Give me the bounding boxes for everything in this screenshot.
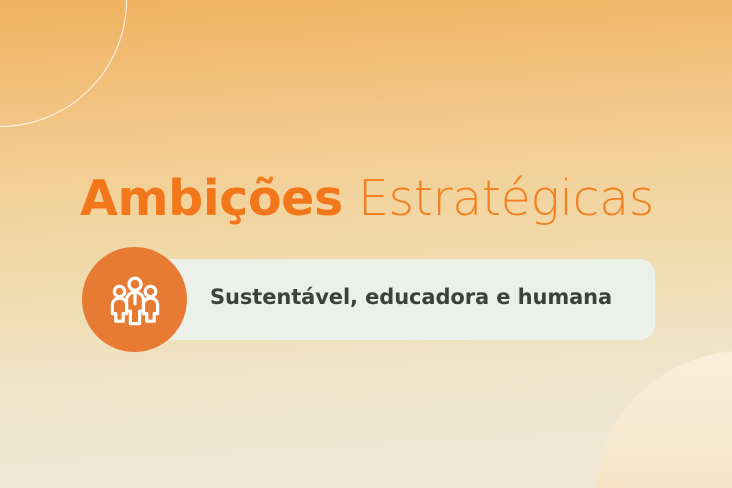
group-of-people-icon bbox=[106, 271, 164, 329]
decorative-circle-bottom-right bbox=[594, 351, 732, 488]
ambitions-banner: Ambições Estratégicas Sustentável, educa… bbox=[0, 0, 732, 488]
page-title-light: Estratégicas bbox=[343, 170, 654, 227]
page-title-strong: Ambições bbox=[80, 170, 343, 227]
decorative-arc-top-left bbox=[0, 0, 127, 127]
subtitle-text: Sustentável, educadora e humana bbox=[210, 285, 612, 309]
icon-badge bbox=[82, 247, 187, 352]
page-title: Ambições Estratégicas bbox=[80, 170, 654, 228]
